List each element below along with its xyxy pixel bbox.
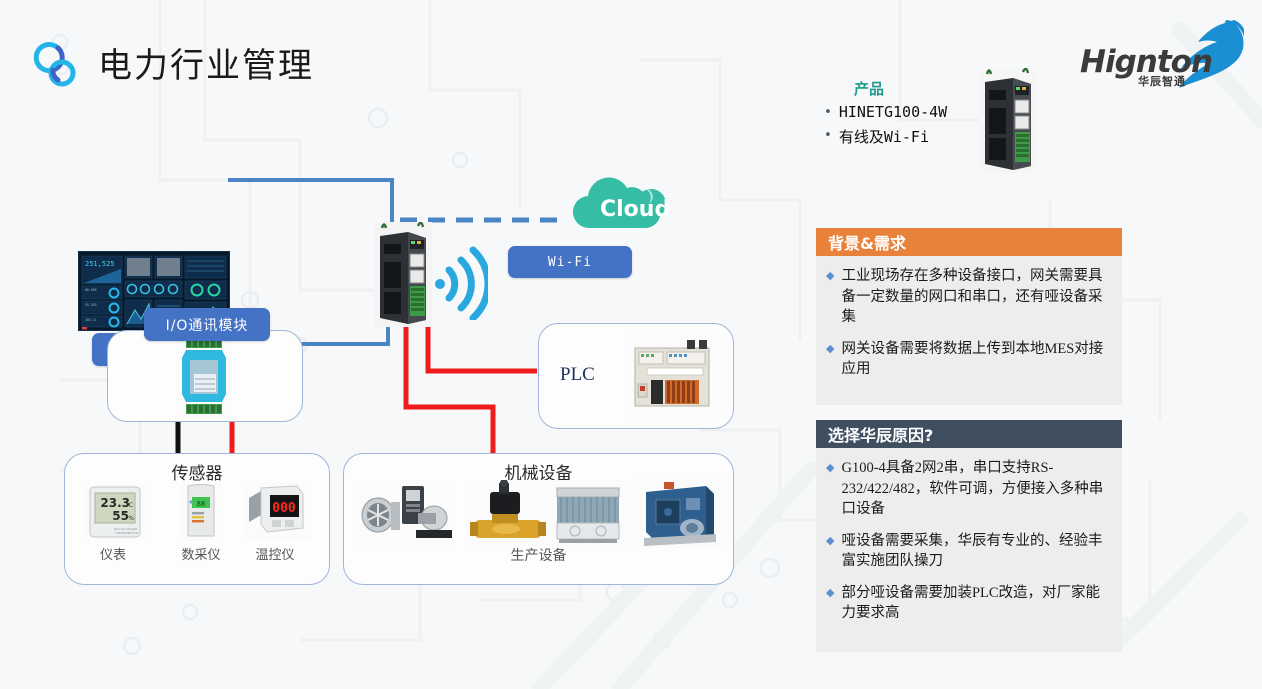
diamond-bullet-icon: ◆	[826, 458, 834, 520]
io-module-label-text: I/O通讯模块	[166, 315, 249, 335]
panel-item-text: 部分哑设备需要加装PLC改造，对厂家能力要求高	[841, 583, 1110, 624]
panel-item: ◆ 工业现场存在多种设备接口，网关需要具备一定数量的网口和串口，还有哑设备采集	[826, 266, 1110, 328]
wifi-label[interactable]: Wi-Fi	[508, 246, 632, 278]
plc-label: PLC	[560, 364, 595, 386]
controller-reading: 000	[272, 501, 296, 516]
svg-text:251,525: 251,525	[85, 260, 115, 268]
svg-text:185.11: 185.11	[85, 318, 97, 322]
svg-text:THERMOMETER: THERMOMETER	[115, 531, 138, 535]
bullet-dot-icon: •	[824, 103, 832, 122]
boiler-photo	[634, 478, 722, 548]
svg-text:55.203: 55.203	[85, 303, 97, 307]
thermo-reading-bottom: 55	[112, 509, 129, 523]
right-column: 产品 • HINETG100-4W • 有线及Wi-Fi	[812, 0, 1262, 689]
cloud-icon: Cloud	[566, 172, 670, 234]
thermo-hygrometer-photo: 23.3 ℃ 55 % DIGITAL HYGROTHERMOMETER	[84, 485, 146, 540]
svg-text:Cloud: Cloud	[600, 197, 670, 222]
panel-header: 选择华辰原因?	[816, 420, 1122, 448]
bullet-dot-icon: •	[824, 126, 832, 145]
product-item-text: 有线及Wi-Fi	[839, 126, 929, 147]
panel-body: ◆ G100-4具备2网2串，串口支持RS-232/422/482，软件可调，方…	[816, 448, 1122, 649]
panel-body: ◆ 工业现场存在多种设备接口，网关需要具备一定数量的网口和串口，还有哑设备采集 …	[816, 256, 1122, 405]
sensor-caption-1: 数采仪	[168, 544, 234, 563]
svg-text:88.668: 88.668	[85, 288, 97, 292]
diamond-bullet-icon: ◆	[826, 339, 834, 380]
panel-item: ◆ 网关设备需要将数据上传到本地MES对接应用	[826, 339, 1110, 380]
data-logger-photo: 88	[180, 483, 222, 541]
temperature-controller-photo: 000	[245, 482, 311, 540]
svg-text:%: %	[128, 515, 134, 522]
plc-label-text: PLC	[560, 364, 595, 385]
sensors-title: 传感器	[64, 459, 330, 484]
page-title: 电力行业管理	[98, 38, 314, 87]
solenoid-valve-photo	[466, 480, 550, 546]
diamond-bullet-icon: ◆	[826, 266, 834, 328]
wifi-signal-icon	[432, 240, 488, 320]
gateway-device-photo	[374, 222, 432, 327]
plc-device-photo	[625, 334, 721, 418]
diamond-bullet-icon: ◆	[826, 531, 834, 572]
network-topology-diagram: 251,525 88.66855.203185.11	[0, 112, 800, 689]
panel-title: 背景&需求	[828, 230, 906, 254]
panel-item-text: 哑设备需要采集，华辰有专业的、经验丰富实施团队操刀	[841, 531, 1110, 572]
chiller-photo	[551, 480, 625, 546]
panel-item-text: G100-4具备2网2串，串口支持RS-232/422/482，软件可调，方便接…	[841, 458, 1110, 520]
machines-caption: 生产设备	[343, 545, 734, 565]
diamond-bullet-icon: ◆	[826, 583, 834, 624]
wifi-label-text: Wi-Fi	[548, 255, 592, 270]
fan-pump-photo	[358, 480, 456, 546]
panel-item-text: 网关设备需要将数据上传到本地MES对接应用	[841, 339, 1110, 380]
product-device-photo	[979, 68, 1037, 173]
panel-why-huachen: 选择华辰原因? ◆ G100-4具备2网2串，串口支持RS-232/422/48…	[816, 420, 1122, 652]
svg-text:℃: ℃	[126, 502, 133, 509]
io-module-photo	[178, 334, 230, 418]
sensor-caption-2: 温控仪	[242, 544, 308, 563]
panel-item: ◆ 部分哑设备需要加装PLC改造，对厂家能力要求高	[826, 583, 1110, 624]
svg-text:88: 88	[197, 500, 205, 508]
panel-header: 背景&需求	[816, 228, 1122, 256]
panel-background-requirements: 背景&需求 ◆ 工业现场存在多种设备接口，网关需要具备一定数量的网口和串口，还有…	[816, 228, 1122, 405]
product-item-text: HINETG100-4W	[839, 103, 947, 121]
two-circles-logo-icon	[28, 36, 90, 88]
io-module-label[interactable]: I/O通讯模块	[144, 308, 270, 341]
panel-item: ◆ 哑设备需要采集，华辰有专业的、经验丰富实施团队操刀	[826, 531, 1110, 572]
panel-item-text: 工业现场存在多种设备接口，网关需要具备一定数量的网口和串口，还有哑设备采集	[841, 266, 1110, 328]
panel-item: ◆ G100-4具备2网2串，串口支持RS-232/422/482，软件可调，方…	[826, 458, 1110, 520]
panel-title: 选择华辰原因?	[828, 422, 933, 446]
sensor-caption-0: 仪表	[80, 544, 146, 563]
